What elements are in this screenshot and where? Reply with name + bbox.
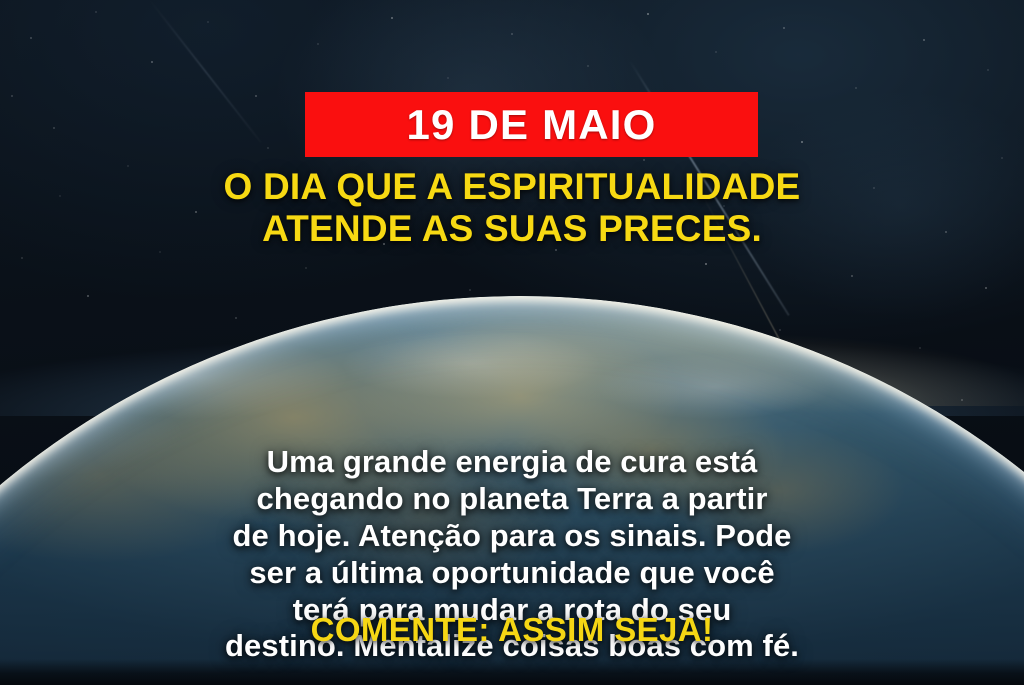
headline-line-2: ATENDE AS SUAS PRECES.	[0, 208, 1024, 250]
date-banner-text: 19 DE MAIO	[406, 104, 656, 146]
headline-line-1: O DIA QUE A ESPIRITUALIDADE	[0, 166, 1024, 208]
date-banner: 19 DE MAIO	[305, 92, 758, 157]
headline: O DIA QUE A ESPIRITUALIDADE ATENDE AS SU…	[0, 166, 1024, 250]
call-to-action: COMENTE: ASSIM SEJA!	[0, 613, 1024, 646]
body-line-2: chegando no planeta Terra a partir	[0, 481, 1024, 518]
poster-canvas: 19 DE MAIO O DIA QUE A ESPIRITUALIDADE A…	[0, 0, 1024, 685]
body-line-1: Uma grande energia de cura está	[0, 444, 1024, 481]
call-to-action-text: COMENTE: ASSIM SEJA!	[311, 611, 714, 648]
body-line-3: de hoje. Atenção para os sinais. Pode	[0, 518, 1024, 555]
body-line-4: ser a última oportunidade que você	[0, 555, 1024, 592]
poster-content: 19 DE MAIO O DIA QUE A ESPIRITUALIDADE A…	[0, 0, 1024, 685]
